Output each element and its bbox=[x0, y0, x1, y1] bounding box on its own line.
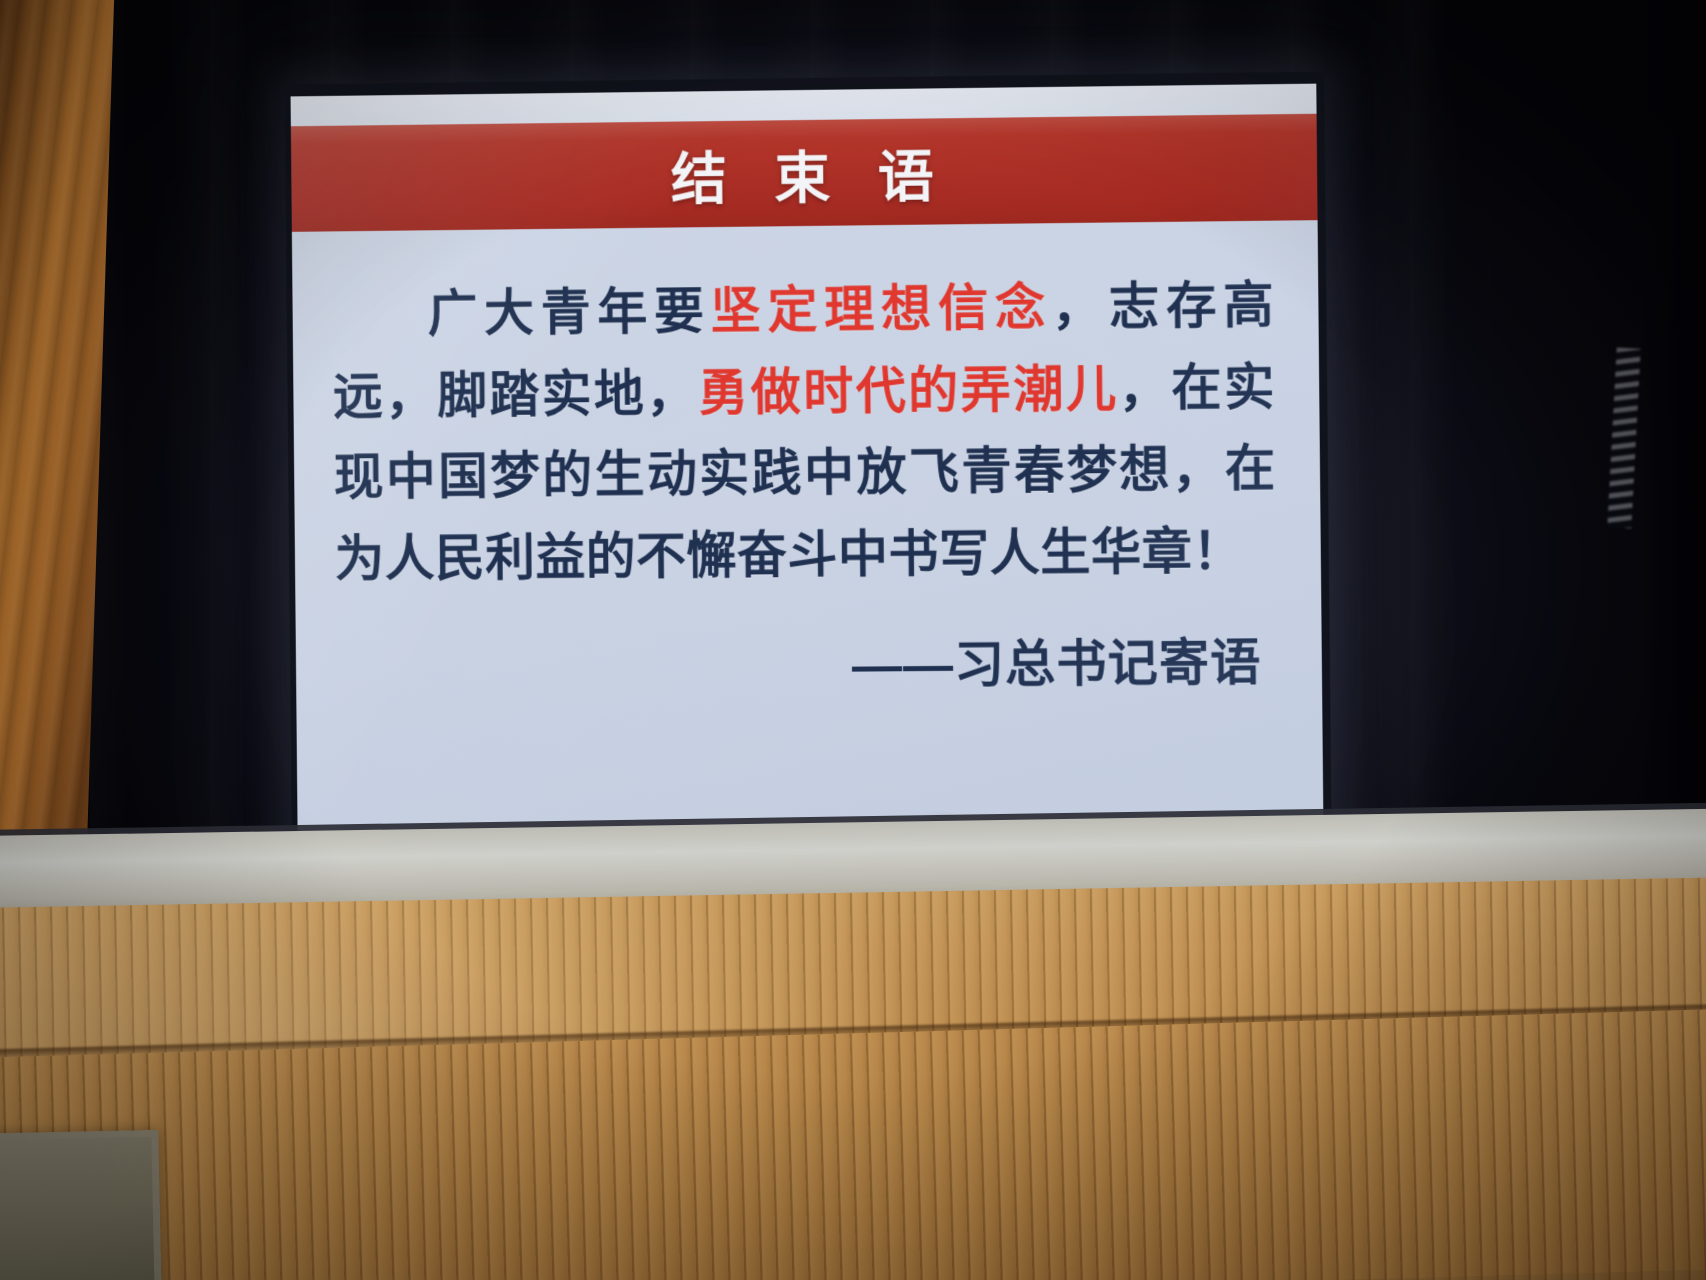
slide-paragraph: 广大青年要坚定理想信念，志存高远，脚踏实地，勇做时代的弄潮儿，在实现中国梦的生动… bbox=[332, 265, 1277, 600]
paragraph-segment-1: 广大青年要 bbox=[427, 283, 711, 342]
paragraph-highlight-1: 坚定理想信念 bbox=[710, 279, 1052, 339]
recessed-panel bbox=[0, 1130, 162, 1280]
slide-attribution: ——习总书记寄语 bbox=[335, 622, 1277, 702]
screen-surface: 结 束 语 广大青年要坚定理想信念，志存高远，脚踏实地，勇做时代的弄潮儿，在实现… bbox=[291, 84, 1324, 844]
auditorium-photo-scene: 结 束 语 广大青年要坚定理想信念，志存高远，脚踏实地，勇做时代的弄潮儿，在实现… bbox=[0, 0, 1706, 1280]
slide-title: 结 束 语 bbox=[654, 131, 950, 215]
slide-body: 广大青年要坚定理想信念，志存高远，脚踏实地，勇做时代的弄潮儿，在实现中国梦的生动… bbox=[292, 220, 1324, 843]
right-dark-edge bbox=[1640, 0, 1706, 900]
paragraph-highlight-2: 勇做时代的弄潮儿 bbox=[698, 360, 1119, 420]
projection-screen: 结 束 语 广大青年要坚定理想信念，志存高远，脚踏实地，勇做时代的弄潮儿，在实现… bbox=[284, 71, 1331, 853]
slide-title-banner: 结 束 语 bbox=[291, 114, 1318, 232]
